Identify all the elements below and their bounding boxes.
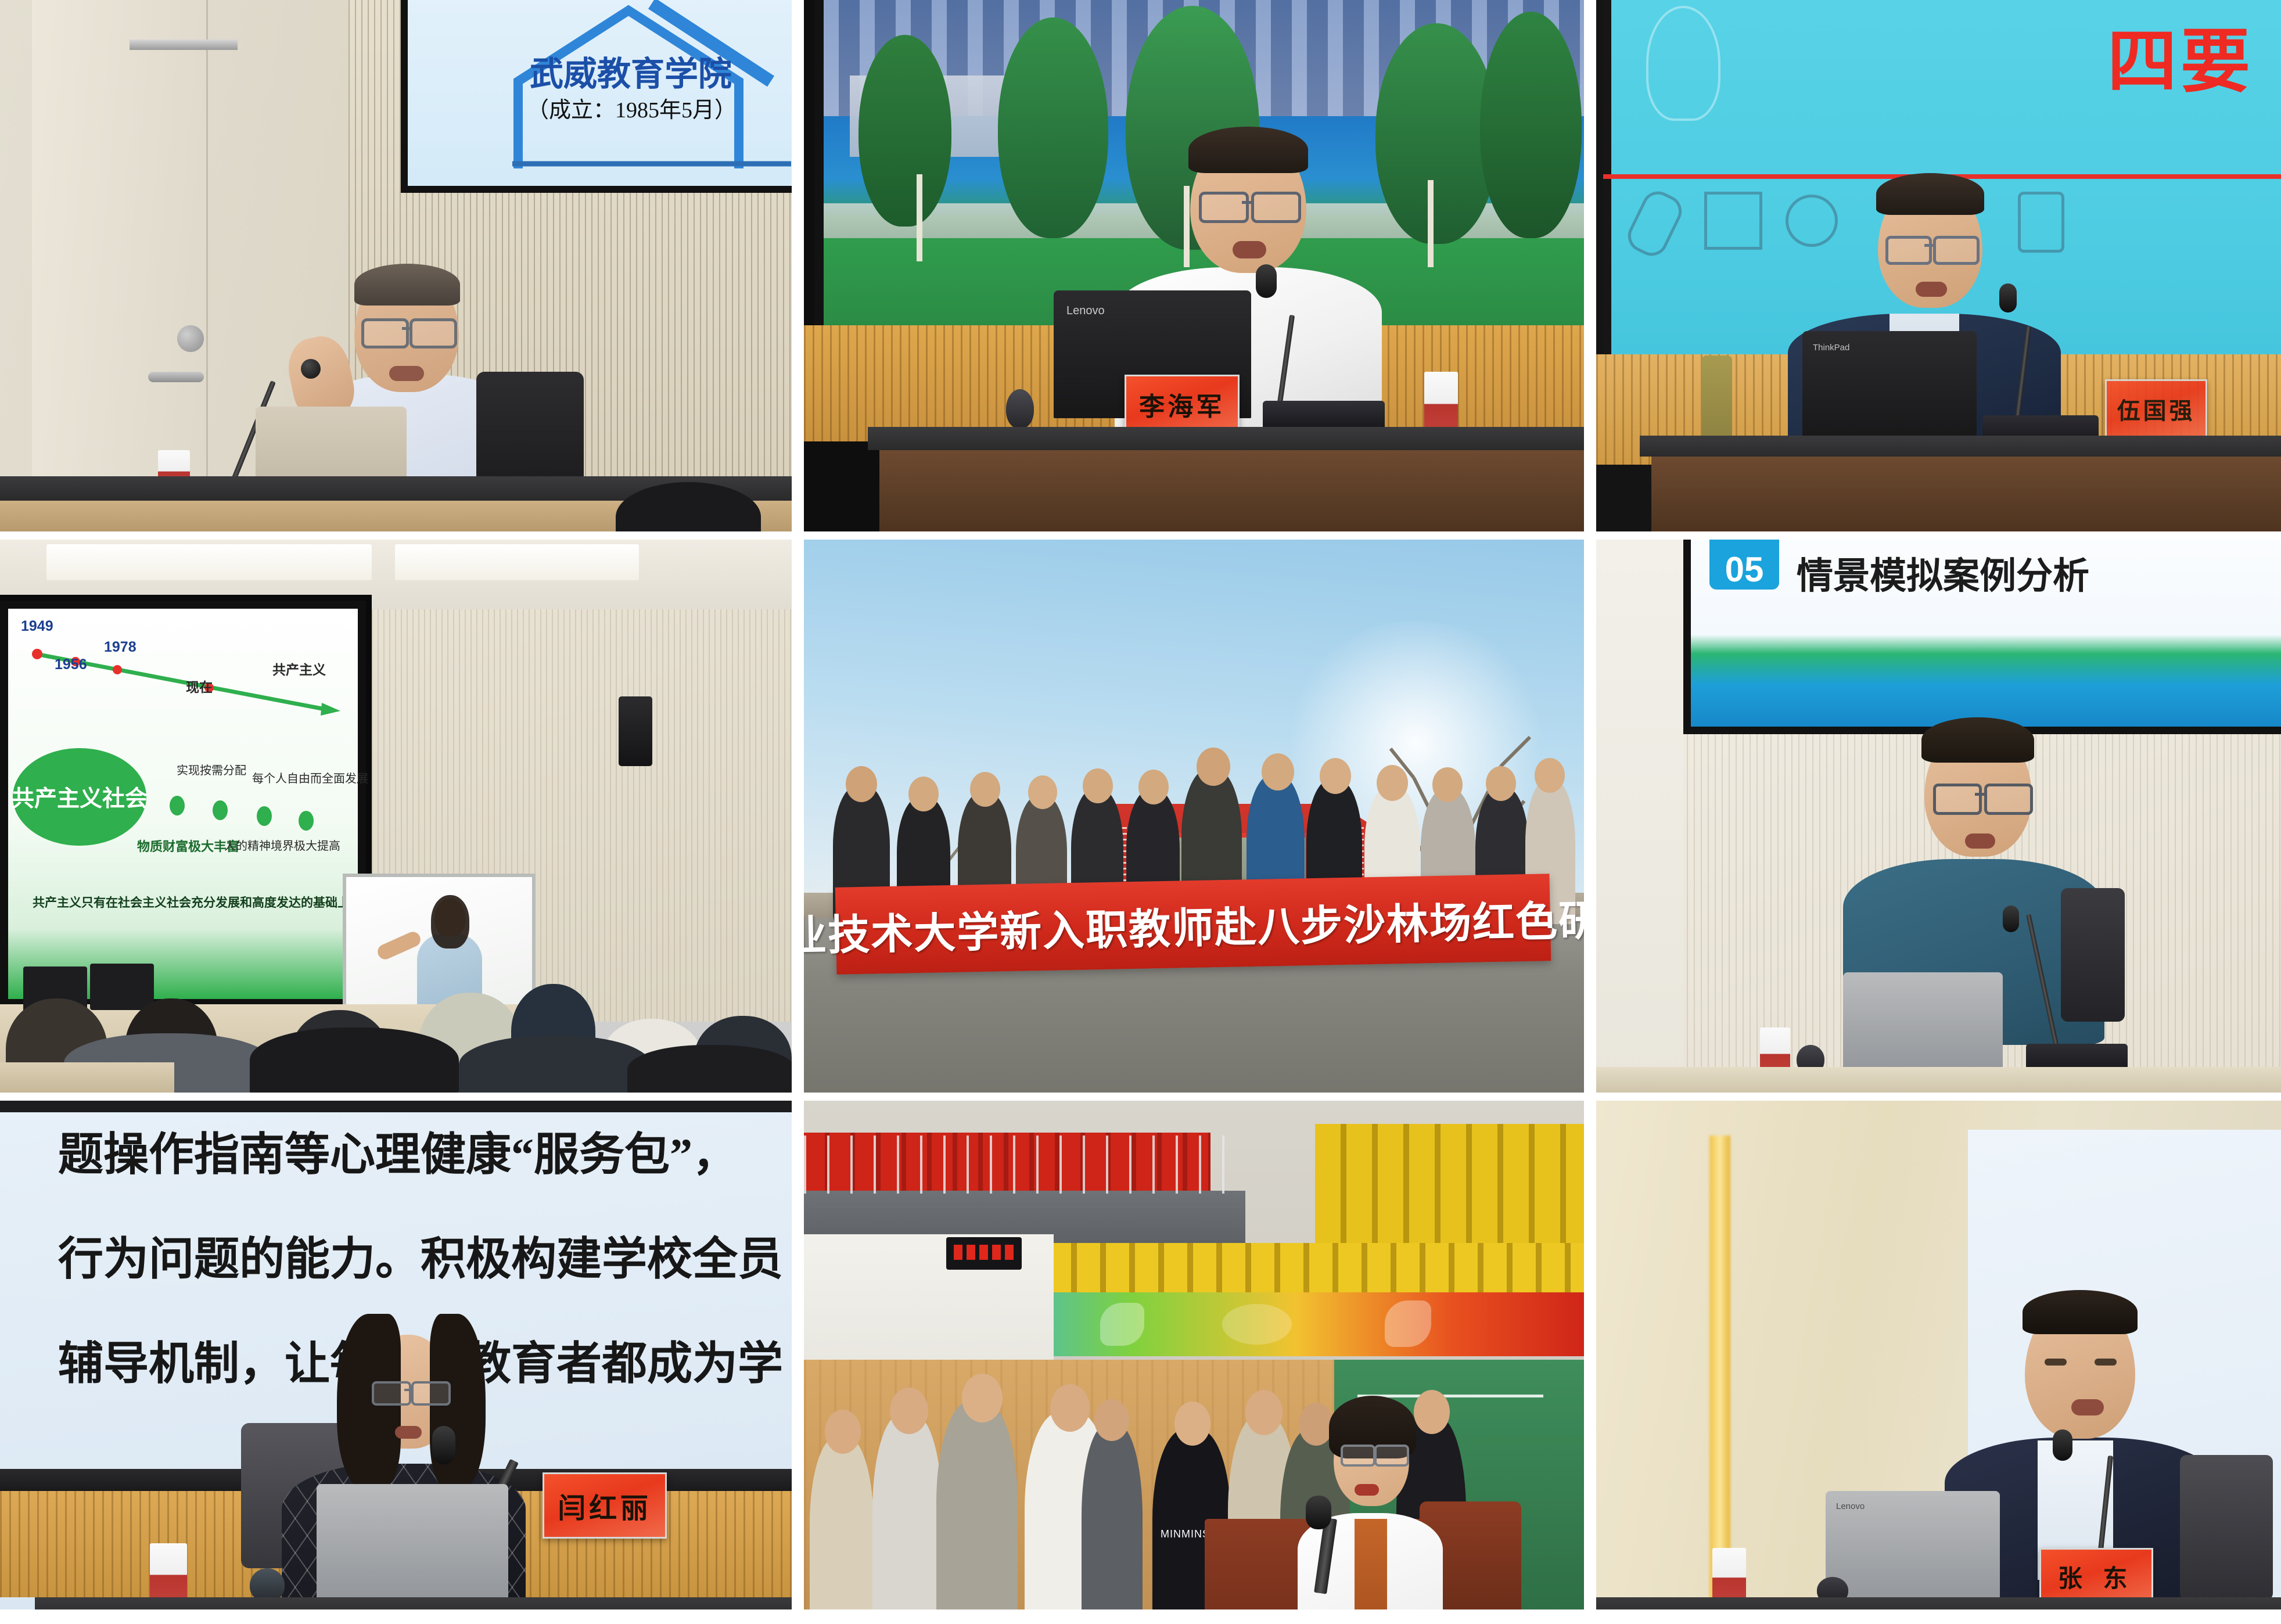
- chair: [2061, 888, 2125, 1022]
- desk-top: [868, 427, 1584, 450]
- slide-line-2: 行为问题的能力。积极构建学校全员: [58, 1223, 783, 1288]
- photo-cell-top-center[interactable]: Lenovo 李海军: [804, 0, 1584, 531]
- person-head: [1050, 1384, 1090, 1432]
- slide-content: 1949 1956 1978 现在 共产主义 共产主义社会 实现按需分配 每个人…: [8, 609, 358, 999]
- laptop-brand-label: Lenovo: [1836, 1501, 1865, 1511]
- balcony-rail: [804, 1136, 1245, 1194]
- screen-heading: 四要: [2107, 5, 2254, 106]
- slide-node-dot: [257, 806, 272, 826]
- person: [1082, 1425, 1143, 1609]
- laptop-brand-label: ThinkPad: [1813, 343, 1849, 353]
- mural-horse-motif: [1385, 1300, 1431, 1347]
- mural-swirl: [1222, 1304, 1292, 1345]
- screen-doodle: [1622, 186, 1687, 261]
- photo-cell-bottom-right[interactable]: Lenovo 张 东: [1596, 1101, 2281, 1609]
- photo-cell-middle-center[interactable]: 武威职业技术大学新入职教师赴八步沙林场红色研学活动: [804, 540, 1584, 1093]
- person-head: [825, 1410, 861, 1454]
- photo-collage: 武威教育学院 （成立：1985年5月）: [0, 0, 2281, 1624]
- timeline-arrow-icon: [20, 638, 345, 742]
- person-head: [1138, 770, 1169, 804]
- photo-cell-top-left[interactable]: 武威教育学院 （成立：1985年5月）: [0, 0, 792, 531]
- desk-front: [879, 450, 1584, 531]
- laptop[interactable]: [1843, 972, 2003, 1074]
- microphone-head: [301, 359, 321, 379]
- gold-light-strip: [1709, 1136, 1730, 1609]
- desk-top: [1640, 436, 2281, 457]
- slide-circle-badge: 共产主义社会: [13, 748, 146, 846]
- attendee: [627, 1045, 792, 1093]
- screen-tree: [1480, 12, 1582, 238]
- thermos: [1702, 355, 1732, 448]
- photo-cell-bottom-left[interactable]: 题操作指南等心理健康“服务包”， 行为问题的能力。积极构建学校全员 辅导机制，让…: [0, 1101, 792, 1609]
- person-head: [1245, 1390, 1283, 1435]
- event-banner-text: 武威职业技术大学新入职教师赴八步沙林场红色研学活动: [804, 883, 1584, 965]
- presentation-screen: 武威教育学院 （成立：1985年5月）: [401, 0, 792, 193]
- microphone-head: [2003, 906, 2019, 932]
- screen-subtitle: （成立：1985年5月）: [527, 92, 737, 124]
- screen-tree: [858, 35, 951, 227]
- attendee: [250, 1027, 459, 1093]
- slide-node-dot: [299, 811, 314, 831]
- speaker-box-icon: [619, 696, 652, 766]
- screen-title: 武威教育学院: [530, 46, 732, 95]
- slide-node-label-2: 每个人自由而全面发展: [252, 769, 368, 786]
- chair: [2180, 1455, 2273, 1600]
- mouse: [1006, 389, 1034, 429]
- nameplate-text: 张 东: [2058, 1559, 2135, 1594]
- person: [810, 1438, 874, 1609]
- desk-top: [1596, 1597, 2281, 1609]
- nameplate: 张 东: [2039, 1548, 2153, 1605]
- desk-surface: [0, 1062, 174, 1093]
- photo-cell-middle-left[interactable]: 1949 1956 1978 现在 共产主义 共产主义社会 实现按需分配 每个人…: [0, 540, 792, 1093]
- wall-left-panel: [1596, 540, 1683, 1093]
- person-head: [1377, 765, 1408, 801]
- decorative-mural: [978, 1292, 1584, 1356]
- timeline-label-now: 现在: [186, 676, 213, 696]
- laptop[interactable]: Lenovo: [1826, 1491, 2000, 1604]
- person: [872, 1414, 942, 1609]
- paper-cup: [150, 1543, 187, 1600]
- attendee: [459, 1036, 651, 1093]
- desk-front: [1651, 457, 2281, 531]
- person-head: [1197, 748, 1230, 786]
- microphone-head: [432, 1426, 455, 1464]
- desk-top: [35, 1597, 792, 1609]
- laptop[interactable]: [317, 1484, 508, 1600]
- person-head: [890, 1388, 928, 1434]
- microphone-head: [1256, 264, 1277, 298]
- mural-horse-motif: [1100, 1303, 1144, 1346]
- ceiling-light: [395, 544, 639, 580]
- door: [32, 0, 208, 488]
- ceiling-light: [46, 544, 372, 580]
- door-knob: [177, 325, 204, 352]
- nameplate-text: 李海军: [1139, 386, 1225, 423]
- person-head: [1320, 758, 1351, 794]
- person-head: [1083, 768, 1113, 803]
- featured-speaker: [1280, 1379, 1454, 1609]
- person-head: [1486, 766, 1516, 801]
- laptop-brand-label: Lenovo: [1066, 304, 1105, 318]
- slide-node-label-1: 实现按需分配: [177, 761, 246, 778]
- door-hinge-bar: [130, 39, 238, 50]
- nameplate-text: 伍国强: [2117, 392, 2195, 426]
- desk-top: [1596, 1067, 2281, 1093]
- timeline-label-1956: 1956: [55, 656, 87, 673]
- nameplate: 闫红丽: [543, 1472, 667, 1539]
- person-head: [1535, 758, 1565, 793]
- person-head: [1094, 1399, 1129, 1441]
- event-banner: 武威职业技术大学新入职教师赴八步沙林场红色研学活动: [835, 874, 1551, 975]
- photo-cell-bottom-center[interactable]: MINMINSTAR: [804, 1101, 1584, 1609]
- slide-number-badge: 05: [1709, 540, 1779, 590]
- photo-cell-middle-right[interactable]: 05 情景模拟案例分析: [1596, 540, 2281, 1093]
- bleacher-yellow-seating: [1048, 1243, 1584, 1298]
- timeline-label-communism: 共产主义: [272, 659, 326, 678]
- slide-heading: 情景模拟案例分析: [1797, 547, 2089, 599]
- person-head: [846, 766, 877, 802]
- timeline-label-1978: 1978: [104, 639, 136, 656]
- person-head: [962, 1374, 1003, 1422]
- screen-tree-trunk: [1428, 180, 1434, 267]
- screen-doodle: [1646, 6, 1720, 121]
- slide-line-1: 题操作指南等心理健康“服务包”，: [58, 1118, 738, 1183]
- person: [936, 1402, 1018, 1609]
- scoreboard-digits: [954, 1245, 1015, 1260]
- nameplate-text: 闫红丽: [558, 1485, 651, 1526]
- screen-tree-trunk: [917, 174, 922, 261]
- person-head: [908, 777, 939, 811]
- microphone-head: [1306, 1496, 1331, 1529]
- paper-cup: [1712, 1548, 1746, 1601]
- slide-circle-label: 共产主义社会: [12, 781, 148, 813]
- slide-node-dot: [170, 796, 185, 815]
- microphone-head: [2053, 1429, 2072, 1461]
- mic-base: [1263, 401, 1385, 430]
- person-head: [970, 772, 1000, 807]
- timeline-label-1949: 1949: [21, 618, 53, 635]
- person-head: [1174, 1402, 1210, 1446]
- nameplate: 伍国强: [2105, 379, 2207, 439]
- slide-node-label-4: 人的精神境界极大提高: [224, 836, 340, 853]
- person-head: [1262, 753, 1294, 791]
- person-head: [1028, 775, 1057, 809]
- projection-screen: 1949 1956 1978 现在 共产主义 共产主义社会 实现按需分配 每个人…: [0, 595, 372, 1013]
- slide-node-dot: [213, 800, 228, 820]
- photo-cell-top-right[interactable]: 四要 ThinkPad 伍国强: [1596, 0, 2281, 531]
- paper-cup: [1424, 372, 1458, 430]
- inner-top: [1355, 1519, 1387, 1609]
- microphone-head: [1999, 283, 2017, 312]
- laptop[interactable]: ThinkPad: [1802, 331, 1977, 444]
- screen-doodle: [1704, 192, 1762, 250]
- door-handle: [148, 372, 204, 382]
- person-head: [1432, 767, 1463, 802]
- nameplate: 李海军: [1125, 375, 1240, 434]
